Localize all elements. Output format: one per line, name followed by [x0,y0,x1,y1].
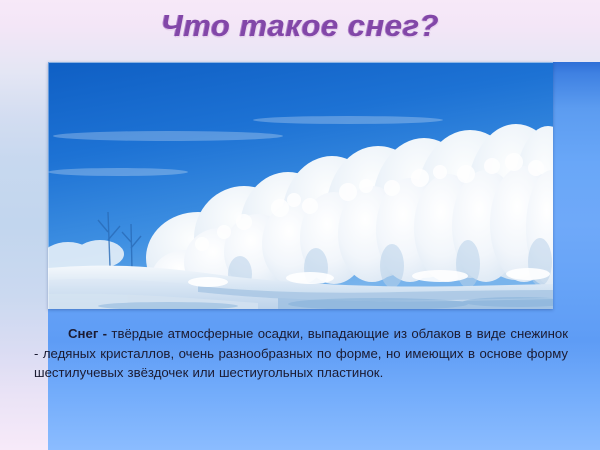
body-lead-term: Снег - [68,326,111,341]
body-paragraph: Снег - твёрдые атмосферные осадки, выпад… [34,324,568,383]
winter-forest-photo [48,62,553,309]
page-title: Что такое снег? [0,8,600,44]
winter-forest-illustration [48,62,553,309]
body-definition-text: твёрдые атмосферные осадки, выпадающие и… [34,326,568,380]
